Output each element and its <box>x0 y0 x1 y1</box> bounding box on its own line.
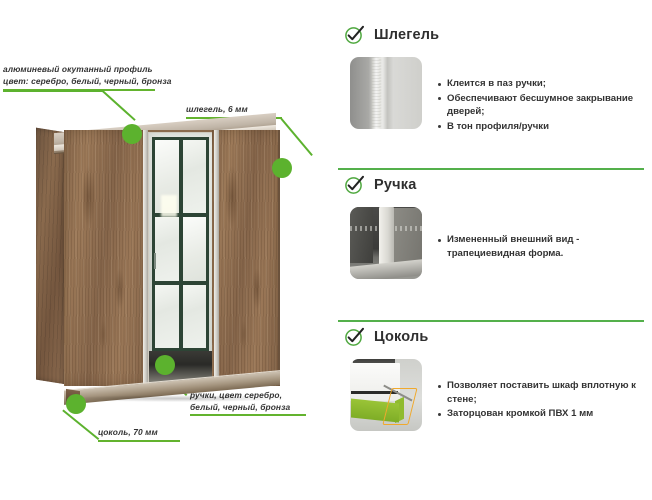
wardrobe-door-mirror <box>148 132 218 386</box>
wardrobe-handle-right <box>214 130 219 386</box>
feature-handle: Ручка Измененный внешний вид - трапециев… <box>330 172 652 279</box>
bullet-item: Позволяет поставить шкаф вплотную к стен… <box>436 379 652 406</box>
mirror-reflection-frame <box>152 137 209 351</box>
marker-dot-handles <box>155 355 175 375</box>
feature-header: Ручка <box>330 172 652 198</box>
wardrobe-floor-shadow <box>70 395 286 402</box>
brush-seal-strip <box>372 57 381 129</box>
callout-plinth-label: цоколь, 70 мм <box>98 427 158 439</box>
bullet-item: Измененный внешний вид - трапециевидная … <box>436 233 652 260</box>
feature-bullet-list: Клеится в паз ручки; Обеспечивают бесшум… <box>436 57 652 134</box>
mirror-highlight <box>161 195 177 217</box>
wardrobe-handle-left <box>143 130 148 386</box>
mirror-pane <box>183 285 207 348</box>
feature-bullet-list: Позволяет поставить шкаф вплотную к стен… <box>436 359 652 431</box>
leader-line-shlegel-d <box>280 118 312 156</box>
callout-profile-label: алюминевый окутанный профиль цвет: сереб… <box>3 64 171 87</box>
bullet-item: Клеится в паз ручки; <box>436 77 652 91</box>
features-panel: Шлегель Клеится в паз ручки; Обеспечиваю… <box>330 0 652 500</box>
callout-profile-line2: цвет: серебро, белый, черный, бронза <box>3 76 171 88</box>
marker-dot-plinth <box>66 394 86 414</box>
wardrobe-left-side-panel <box>36 128 66 385</box>
leader-line-profile-h <box>3 90 103 92</box>
feature-body: Измененный внешний вид - трапециевидная … <box>330 207 652 279</box>
feature-title: Ручка <box>374 177 416 193</box>
slide-root: алюминевый окутанный профиль цвет: сереб… <box>0 0 652 500</box>
shlegel-photo <box>350 57 422 129</box>
feature-body: Позволяет поставить шкаф вплотную к стен… <box>330 359 652 431</box>
callout-plinth-underline <box>98 440 180 442</box>
feature-bullet-list: Измененный внешний вид - трапециевидная … <box>436 207 652 279</box>
marker-dot-profile <box>122 124 142 144</box>
callout-handles-line2: белый, черный, бронза <box>190 402 290 414</box>
feature-shlegel: Шлегель Клеится в паз ручки; Обеспечиваю… <box>330 22 652 134</box>
handle-photo <box>350 207 422 279</box>
bullet-item: Заторцован кромкой ПВХ 1 мм <box>436 407 652 421</box>
callout-handles-underline <box>190 414 306 416</box>
check-circle-icon <box>344 328 363 347</box>
leader-line-plinth-d <box>62 409 99 440</box>
wardrobe-door-left <box>64 130 146 386</box>
feature-plinth: Цоколь Позволяет поставить шкаф вплотную… <box>330 324 652 431</box>
mirror-pane <box>155 285 179 348</box>
check-circle-icon <box>344 176 363 195</box>
mirror-pane <box>183 140 207 213</box>
wardrobe-front <box>64 130 280 386</box>
mirror-pane <box>183 217 207 280</box>
handle-photo-door-right <box>392 208 422 263</box>
plinth-photo <box>350 359 422 431</box>
callout-profile-line1: алюминевый окутанный профиль <box>3 64 171 76</box>
feature-title: Шлегель <box>374 27 439 43</box>
callout-plinth-line1: цоколь, 70 мм <box>98 427 158 439</box>
callout-shlegel-label: шлегель, 6 мм <box>186 104 248 116</box>
bullet-item: В тон профиля/ручки <box>436 120 652 134</box>
feature-body: Клеится в паз ручки; Обеспечивают бесшум… <box>330 57 652 134</box>
handle-photo-door-left <box>350 207 373 263</box>
mirror-pane <box>155 217 179 280</box>
mirror-reflected-handle <box>154 253 156 269</box>
callout-shlegel-line1: шлегель, 6 мм <box>186 104 248 116</box>
leader-line-profile-d <box>102 90 136 121</box>
marker-dot-shlegel <box>272 158 292 178</box>
feature-header: Шлегель <box>330 22 652 48</box>
feature-header: Цоколь <box>330 324 652 350</box>
feature-divider-2 <box>338 320 644 322</box>
wardrobe-door-right <box>212 130 278 386</box>
feature-title: Цоколь <box>374 329 429 345</box>
check-circle-icon <box>344 26 363 45</box>
bullet-item: Обеспечивают бесшумное закрывание дверей… <box>436 92 652 119</box>
feature-divider-1 <box>338 168 644 170</box>
mirror-reflection-grid <box>155 140 206 348</box>
handle-profile-shape <box>379 207 394 267</box>
product-illustration-panel: алюминевый окутанный профиль цвет: сереб… <box>0 0 330 500</box>
